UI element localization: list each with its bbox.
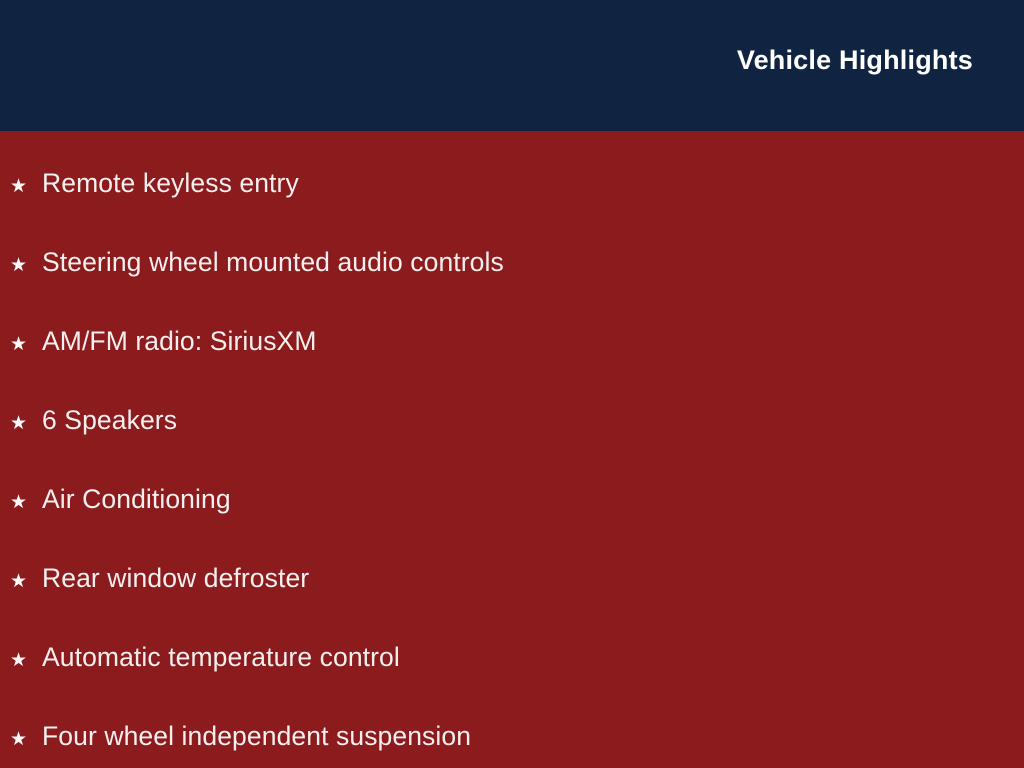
list-item: ★Air Conditioning xyxy=(10,486,231,513)
slide-vehicle-highlights: Vehicle Highlights ★Remote keyless entry… xyxy=(0,0,1024,768)
list-item: ★Automatic temperature control xyxy=(10,644,400,671)
star-icon: ★ xyxy=(10,335,42,354)
list-item-label: Automatic temperature control xyxy=(42,644,400,671)
list-item: ★Steering wheel mounted audio controls xyxy=(10,249,504,276)
list-item-label: Air Conditioning xyxy=(42,486,231,513)
page-title: Vehicle Highlights xyxy=(737,47,973,74)
list-item: ★Four wheel independent suspension xyxy=(10,723,471,750)
list-item: ★Rear window defroster xyxy=(10,565,309,592)
list-item-label: Rear window defroster xyxy=(42,565,309,592)
star-icon: ★ xyxy=(10,493,42,512)
list-item-label: 6 Speakers xyxy=(42,407,177,434)
list-item: ★6 Speakers xyxy=(10,407,177,434)
header-band: Vehicle Highlights xyxy=(0,0,1024,131)
list-item-label: Remote keyless entry xyxy=(42,170,299,197)
star-icon: ★ xyxy=(10,572,42,591)
star-icon: ★ xyxy=(10,651,42,670)
star-icon: ★ xyxy=(10,256,42,275)
list-item-label: Four wheel independent suspension xyxy=(42,723,471,750)
star-icon: ★ xyxy=(10,414,42,433)
star-icon: ★ xyxy=(10,730,42,749)
list-item-label: AM/FM radio: SiriusXM xyxy=(42,328,317,355)
list-item-label: Steering wheel mounted audio controls xyxy=(42,249,504,276)
star-icon: ★ xyxy=(10,177,42,196)
list-item: ★AM/FM radio: SiriusXM xyxy=(10,328,317,355)
list-item: ★Remote keyless entry xyxy=(10,170,299,197)
slide-body: ★Remote keyless entry★Steering wheel mou… xyxy=(0,131,1024,768)
